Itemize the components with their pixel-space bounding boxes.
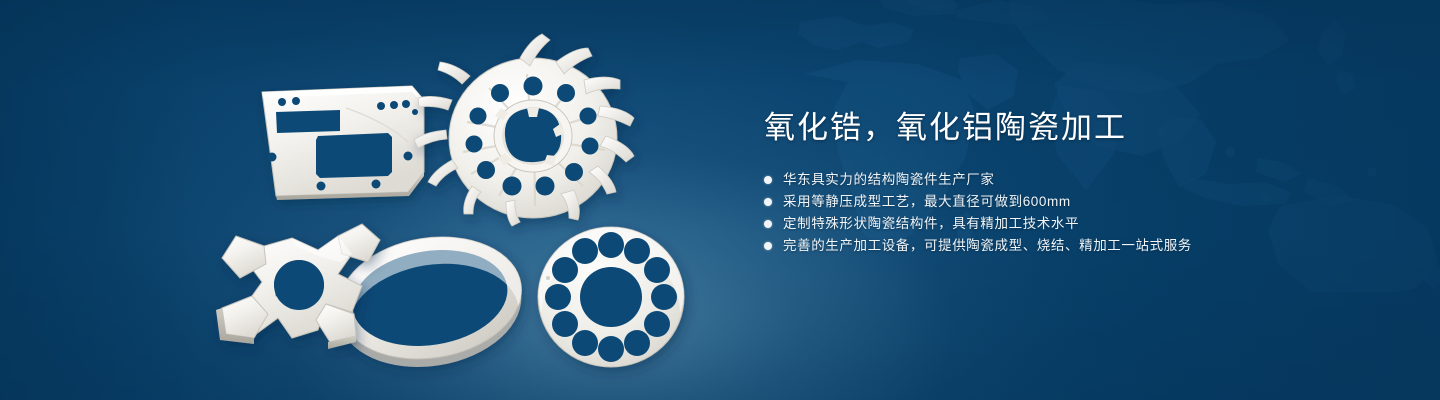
feature-list: 华东具实力的结构陶瓷件生产厂家 采用等静压成型工艺，最大直径可做到600mm 定… (764, 169, 1364, 257)
page-title: 氧化锆，氧化铝陶瓷加工 (764, 108, 1364, 147)
product-ceramic-cross-plate (216, 224, 380, 349)
list-item: 定制特殊形状陶瓷结构件，具有精加工技术水平 (764, 213, 1364, 235)
list-item: 采用等静压成型工艺，最大直径可做到600mm (764, 191, 1364, 213)
bullet-dot-icon (764, 242, 772, 250)
feature-text: 采用等静压成型工艺，最大直径可做到600mm (783, 191, 1071, 213)
list-item: 完善的生产加工设备，可提供陶瓷成型、烧结、精加工一站式服务 (764, 235, 1364, 257)
feature-text: 华东具实力的结构陶瓷件生产厂家 (783, 169, 995, 191)
banner-copy: 氧化锆，氧化铝陶瓷加工 华东具实力的结构陶瓷件生产厂家 采用等静压成型工艺，最大… (764, 108, 1364, 257)
feature-text: 定制特殊形状陶瓷结构件，具有精加工技术水平 (783, 213, 1079, 235)
bullet-dot-icon (764, 220, 772, 228)
bullet-dot-icon (764, 198, 772, 206)
product-image-cluster (0, 0, 760, 400)
list-item: 华东具实力的结构陶瓷件生产厂家 (764, 169, 1364, 191)
hero-banner: 氧化锆，氧化铝陶瓷加工 华东具实力的结构陶瓷件生产厂家 采用等静压成型工艺，最大… (0, 0, 1440, 400)
feature-text: 完善的生产加工设备，可提供陶瓷成型、烧结、精加工一站式服务 (783, 235, 1192, 257)
bullet-dot-icon (764, 176, 772, 184)
product-ceramic-impeller (414, 34, 634, 226)
ceramic-parts-illustration (0, 0, 760, 400)
product-ceramic-hole-disc (538, 227, 684, 367)
product-ceramic-mounting-plate (262, 86, 424, 200)
